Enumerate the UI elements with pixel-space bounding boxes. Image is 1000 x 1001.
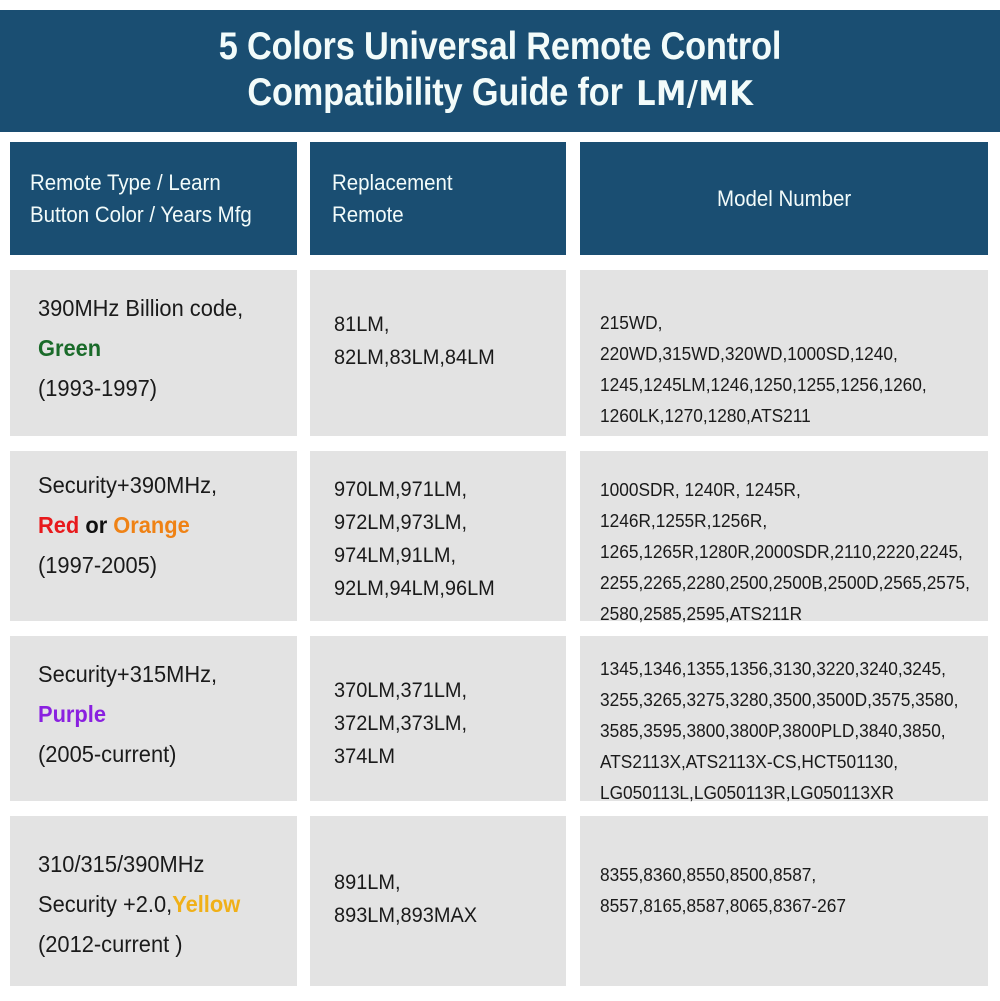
model-number-text: 215WD, 220WD,315WD,320WD,1000SD,1240, 12… <box>600 308 963 432</box>
replacement-remote-text: 891LM, 893LM,893MAX <box>334 866 545 932</box>
learn-button-color-primary: Purple <box>38 701 106 727</box>
remote-type-text: 310/315/390MHz Security +2.0,Yellow (201… <box>38 844 275 964</box>
remote-type-text: Security+315MHz, Purple (2005-current) <box>38 654 275 774</box>
remote-type-years: (1997-2005) <box>38 545 275 585</box>
remote-type-frequency: 310/315/390MHz <box>38 844 275 884</box>
compatibility-table: Remote Type / Learn Button Color / Years… <box>0 142 1000 1001</box>
table-row: Security+390MHz, Red or Orange (1997-200… <box>0 451 1000 621</box>
cell-remote-type: Security+315MHz, Purple (2005-current) <box>10 636 297 801</box>
title-line-1: 5 Colors Universal Remote Control <box>60 24 940 70</box>
cell-remote-type: Security+390MHz, Red or Orange (1997-200… <box>10 451 297 621</box>
title-line-2: Compatibility Guide for <box>248 71 623 114</box>
compatibility-guide-page: 5 Colors Universal Remote Control Compat… <box>0 0 1000 1000</box>
remote-type-years: (2005-current) <box>38 734 275 774</box>
remote-type-years: (2012-current ) <box>38 924 275 964</box>
remote-type-text: 390MHz Billion code, Green (1993-1997) <box>38 288 275 408</box>
remote-type-color-line: Green <box>38 328 275 368</box>
cell-model-number: 1000SDR, 1240R, 1245R, 1246R,1255R,1256R… <box>580 451 988 621</box>
remote-type-frequency: Security+390MHz, <box>38 465 275 505</box>
table-row: 310/315/390MHz Security +2.0,Yellow (201… <box>0 816 1000 986</box>
header-cell-remote-type: Remote Type / Learn Button Color / Years… <box>10 142 297 255</box>
table-row: Security+315MHz, Purple (2005-current) 3… <box>0 636 1000 801</box>
cell-replacement-remote: 891LM, 893LM,893MAX <box>310 816 566 986</box>
header-cell-replacement-remote: Replacement Remote <box>310 142 566 255</box>
cell-model-number: 8355,8360,8550,8500,8587, 8557,8165,8587… <box>580 816 988 986</box>
learn-button-color-primary: Yellow <box>172 891 240 917</box>
model-number-text: 8355,8360,8550,8500,8587, 8557,8165,8587… <box>600 860 963 922</box>
table-row: 390MHz Billion code, Green (1993-1997) 8… <box>0 270 1000 436</box>
learn-button-color-primary: Green <box>38 335 101 361</box>
replacement-remote-text: 970LM,971LM, 972LM,973LM, 974LM,91LM, 92… <box>334 473 545 605</box>
cell-replacement-remote: 81LM, 82LM,83LM,84LM <box>310 270 566 436</box>
remote-type-color-line: Security +2.0,Yellow <box>38 884 275 924</box>
table-header-row: Remote Type / Learn Button Color / Years… <box>0 142 1000 255</box>
remote-type-text: Security+390MHz, Red or Orange (1997-200… <box>38 465 275 585</box>
title-line-2-wrapper: Compatibility Guide forLM/MK <box>248 70 752 117</box>
header-label-model-number: Model Number <box>717 183 851 215</box>
brand-label: LM/MK <box>636 71 753 117</box>
model-number-text: 1000SDR, 1240R, 1245R, 1246R,1255R,1256R… <box>600 475 963 630</box>
replacement-remote-text: 81LM, 82LM,83LM,84LM <box>334 308 545 374</box>
header-cell-model-number: Model Number <box>580 142 988 255</box>
header-label-replacement-remote: Replacement Remote <box>332 167 453 231</box>
replacement-remote-text: 370LM,371LM, 372LM,373LM, 374LM <box>334 674 545 773</box>
color-conjunction: or <box>79 512 113 538</box>
remote-type-color-line: Purple <box>38 694 275 734</box>
color-prefix: Security +2.0, <box>38 891 172 917</box>
remote-type-frequency: Security+315MHz, <box>38 654 275 694</box>
header-label-remote-type: Remote Type / Learn Button Color / Years… <box>30 167 252 231</box>
cell-model-number: 215WD, 220WD,315WD,320WD,1000SD,1240, 12… <box>580 270 988 436</box>
cell-replacement-remote: 370LM,371LM, 372LM,373LM, 374LM <box>310 636 566 801</box>
cell-model-number: 1345,1346,1355,1356,3130,3220,3240,3245,… <box>580 636 988 801</box>
cell-remote-type: 390MHz Billion code, Green (1993-1997) <box>10 270 297 436</box>
remote-type-color-line: Red or Orange <box>38 505 275 545</box>
learn-button-color-primary: Red <box>38 512 79 538</box>
cell-replacement-remote: 970LM,971LM, 972LM,973LM, 974LM,91LM, 92… <box>310 451 566 621</box>
cell-remote-type: 310/315/390MHz Security +2.0,Yellow (201… <box>10 816 297 986</box>
title-banner: 5 Colors Universal Remote Control Compat… <box>0 10 1000 132</box>
model-number-text: 1345,1346,1355,1356,3130,3220,3240,3245,… <box>600 654 963 809</box>
remote-type-frequency: 390MHz Billion code, <box>38 288 275 328</box>
remote-type-years: (1993-1997) <box>38 368 275 408</box>
learn-button-color-secondary: Orange <box>113 512 190 538</box>
